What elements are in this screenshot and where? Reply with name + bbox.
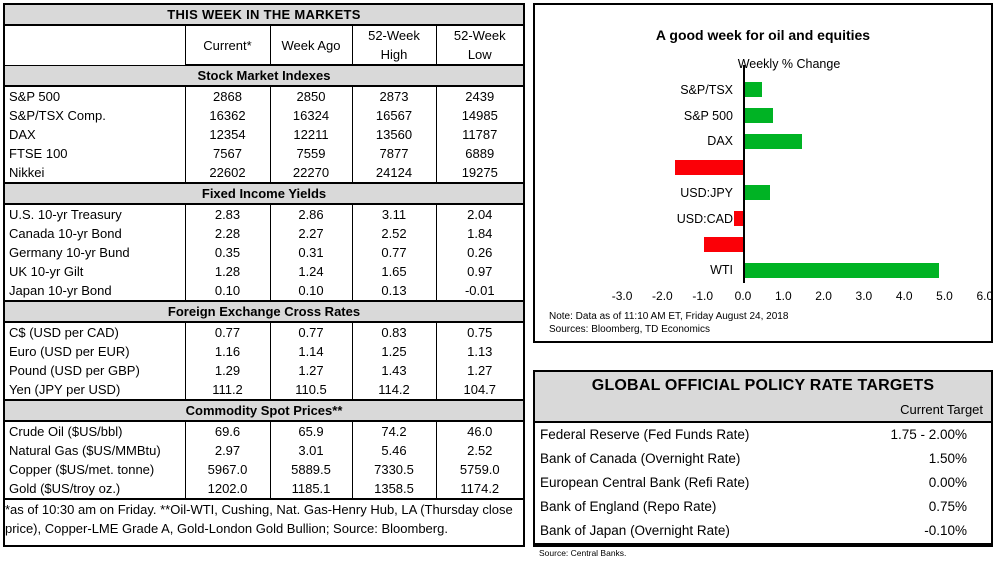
row-label: Nikkei	[5, 163, 185, 183]
cell-52-week-low: 2.52	[436, 441, 523, 460]
cell-week-ago: 0.77	[270, 322, 352, 342]
markets-footnote-row: *as of 10:30 am on Friday. **Oil-WTI, Cu…	[5, 499, 523, 538]
cell-52-week-low: -0.01	[436, 281, 523, 301]
policy-rate-value: 0.75%	[827, 495, 991, 519]
cell-week-ago: 2.86	[270, 204, 352, 224]
policy-rate-table: GLOBAL OFFICIAL POLICY RATE TARGETS Curr…	[535, 372, 991, 561]
column-header-52-week-low: 52-WeekLow	[436, 25, 523, 65]
chart-x-tick: -1.0	[692, 289, 713, 303]
chart-x-tick: -2.0	[652, 289, 673, 303]
cell-52-week-high: 2.52	[352, 224, 436, 243]
cell-current: 111.2	[185, 380, 270, 400]
cell-week-ago: 16324	[270, 106, 352, 125]
cell-week-ago: 1.24	[270, 262, 352, 281]
chart-x-tick: 4.0	[896, 289, 913, 303]
cell-week-ago: 3.01	[270, 441, 352, 460]
cell-52-week-high: 16567	[352, 106, 436, 125]
policy-rate-value: -0.10%	[827, 519, 991, 544]
chart-title: A good week for oil and equities	[535, 27, 991, 43]
row-label: C$ (USD per CAD)	[5, 322, 185, 342]
cell-52-week-high: 0.77	[352, 243, 436, 262]
cell-week-ago: 1185.1	[270, 479, 352, 499]
policy-header-current-target: Current Target	[827, 399, 991, 422]
cell-week-ago: 0.31	[270, 243, 352, 262]
row-label: Yen (JPY per USD)	[5, 380, 185, 400]
policy-rate-panel: GLOBAL OFFICIAL POLICY RATE TARGETS Curr…	[533, 370, 993, 547]
cell-week-ago: 2850	[270, 86, 352, 106]
table-row: Germany 10-yr Bund0.350.310.770.26	[5, 243, 523, 262]
chart-bar	[744, 263, 939, 278]
cell-week-ago: 1.14	[270, 342, 352, 361]
table-row: UK 10-yr Gilt1.281.241.650.97	[5, 262, 523, 281]
chart-plot-area: S&P/TSXS&P 500DAXUSD:EURUSD:JPYUSD:CADDX…	[535, 77, 991, 283]
policy-bank-name: Bank of Canada (Overnight Rate)	[535, 447, 827, 471]
chart-x-tick: 0.0	[735, 289, 752, 303]
chart-x-tick: -3.0	[612, 289, 633, 303]
cell-current: 7567	[185, 144, 270, 163]
cell-current: 0.35	[185, 243, 270, 262]
chart-x-axis: -3.0-2.0-1.00.01.02.03.04.05.06.0	[535, 289, 991, 305]
chart-subtitle: Weekly % Change	[535, 57, 991, 71]
chart-bar	[704, 237, 743, 252]
table-row: Federal Reserve (Fed Funds Rate)1.75 - 2…	[535, 422, 991, 447]
column-header-blank	[5, 25, 185, 65]
cell-52-week-low: 1.13	[436, 342, 523, 361]
cell-week-ago: 110.5	[270, 380, 352, 400]
cell-current: 16362	[185, 106, 270, 125]
row-label: Crude Oil ($US/bbl)	[5, 421, 185, 441]
markets-title-row: THIS WEEK IN THE MARKETS	[5, 5, 523, 25]
chart-bar	[675, 160, 743, 175]
cell-52-week-high: 74.2	[352, 421, 436, 441]
cell-week-ago: 0.10	[270, 281, 352, 301]
cell-current: 2.97	[185, 441, 270, 460]
row-label: Euro (USD per EUR)	[5, 342, 185, 361]
cell-current: 2.83	[185, 204, 270, 224]
chart-note: Note: Data as of 11:10 AM ET, Friday Aug…	[549, 311, 788, 336]
table-row: Gold ($US/troy oz.)1202.01185.11358.5117…	[5, 479, 523, 499]
chart-bar	[734, 211, 743, 226]
cell-current: 69.6	[185, 421, 270, 441]
markets-column-header-row: Current*Week Ago52-WeekHigh52-WeekLow	[5, 25, 523, 65]
policy-bank-name: Federal Reserve (Fed Funds Rate)	[535, 422, 827, 447]
table-row: Pound (USD per GBP)1.291.271.431.27	[5, 361, 523, 380]
table-row: DAX12354122111356011787	[5, 125, 523, 144]
weekly-change-chart-panel: A good week for oil and equities Weekly …	[533, 3, 993, 343]
chart-x-tick: 1.0	[775, 289, 792, 303]
cell-current: 5967.0	[185, 460, 270, 479]
row-label: Gold ($US/troy oz.)	[5, 479, 185, 499]
column-header-52-week-high: 52-WeekHigh	[352, 25, 436, 65]
markets-footnote: *as of 10:30 am on Friday. **Oil-WTI, Cu…	[5, 499, 523, 538]
section-heading: Foreign Exchange Cross Rates	[5, 301, 523, 322]
cell-52-week-high: 7877	[352, 144, 436, 163]
cell-week-ago: 5889.5	[270, 460, 352, 479]
cell-52-week-high: 24124	[352, 163, 436, 183]
policy-bank-name: Bank of Japan (Overnight Rate)	[535, 519, 827, 544]
cell-current: 2.28	[185, 224, 270, 243]
cell-52-week-low: 19275	[436, 163, 523, 183]
cell-current: 1.28	[185, 262, 270, 281]
table-row: Bank of Canada (Overnight Rate)1.50%	[535, 447, 991, 471]
table-row: Japan 10-yr Bond0.100.100.13-0.01	[5, 281, 523, 301]
cell-week-ago: 22270	[270, 163, 352, 183]
cell-52-week-high: 0.83	[352, 322, 436, 342]
cell-52-week-low: 46.0	[436, 421, 523, 441]
cell-52-week-high: 1.43	[352, 361, 436, 380]
table-row: Crude Oil ($US/bbl)69.665.974.246.0	[5, 421, 523, 441]
row-label: DAX	[5, 125, 185, 144]
cell-52-week-low: 104.7	[436, 380, 523, 400]
cell-current: 2868	[185, 86, 270, 106]
policy-rate-value: 0.00%	[827, 471, 991, 495]
chart-x-tick: 3.0	[856, 289, 873, 303]
cell-52-week-low: 6889	[436, 144, 523, 163]
table-row: Nikkei22602222702412419275	[5, 163, 523, 183]
row-label: U.S. 10-yr Treasury	[5, 204, 185, 224]
cell-week-ago: 2.27	[270, 224, 352, 243]
cell-52-week-high: 0.13	[352, 281, 436, 301]
table-row: Copper ($US/met. tonne)5967.05889.57330.…	[5, 460, 523, 479]
chart-bar	[744, 108, 773, 123]
cell-week-ago: 1.27	[270, 361, 352, 380]
this-week-in-the-markets-panel: THIS WEEK IN THE MARKETSCurrent*Week Ago…	[3, 3, 525, 547]
cell-current: 1202.0	[185, 479, 270, 499]
cell-52-week-high: 114.2	[352, 380, 436, 400]
markets-title: THIS WEEK IN THE MARKETS	[5, 5, 523, 25]
column-header-current: Current*	[185, 25, 270, 65]
section-heading: Stock Market Indexes	[5, 65, 523, 86]
table-row: Canada 10-yr Bond2.282.272.521.84	[5, 224, 523, 243]
cell-week-ago: 12211	[270, 125, 352, 144]
markets-dashboard: THIS WEEK IN THE MARKETSCurrent*Week Ago…	[0, 0, 996, 550]
policy-table-title-row: GLOBAL OFFICIAL POLICY RATE TARGETS	[535, 372, 991, 399]
cell-week-ago: 7559	[270, 144, 352, 163]
row-label: Canada 10-yr Bond	[5, 224, 185, 243]
row-label: Germany 10-yr Bund	[5, 243, 185, 262]
markets-table: THIS WEEK IN THE MARKETSCurrent*Week Ago…	[5, 5, 523, 538]
row-label: Pound (USD per GBP)	[5, 361, 185, 380]
cell-52-week-low: 0.26	[436, 243, 523, 262]
row-label: UK 10-yr Gilt	[5, 262, 185, 281]
cell-52-week-high: 3.11	[352, 204, 436, 224]
chart-category-label: USD:CAD	[583, 212, 733, 226]
chart-bar	[744, 82, 762, 97]
chart-category-label: USD:JPY	[583, 186, 733, 200]
table-row: Euro (USD per EUR)1.161.141.251.13	[5, 342, 523, 361]
cell-52-week-low: 2.04	[436, 204, 523, 224]
section-header-row: Foreign Exchange Cross Rates	[5, 301, 523, 322]
table-row: Bank of Japan (Overnight Rate)-0.10%	[535, 519, 991, 544]
cell-current: 22602	[185, 163, 270, 183]
chart-bar	[744, 185, 770, 200]
section-header-row: Stock Market Indexes	[5, 65, 523, 86]
chart-category-label: S&P/TSX	[583, 83, 733, 97]
cell-52-week-low: 14985	[436, 106, 523, 125]
chart-x-tick: 5.0	[936, 289, 953, 303]
cell-52-week-high: 1358.5	[352, 479, 436, 499]
row-label: Japan 10-yr Bond	[5, 281, 185, 301]
cell-52-week-high: 5.46	[352, 441, 436, 460]
cell-current: 0.77	[185, 322, 270, 342]
chart-note-line2: Sources: Bloomberg, TD Economics	[549, 324, 788, 337]
chart-x-tick: 2.0	[815, 289, 832, 303]
policy-bank-name: Bank of England (Repo Rate)	[535, 495, 827, 519]
cell-52-week-high: 1.65	[352, 262, 436, 281]
row-label: Natural Gas ($US/MMBtu)	[5, 441, 185, 460]
cell-52-week-low: 1.84	[436, 224, 523, 243]
chart-note-line1: Note: Data as of 11:10 AM ET, Friday Aug…	[549, 311, 788, 324]
chart-x-tick: 6.0	[976, 289, 993, 303]
section-header-row: Fixed Income Yields	[5, 183, 523, 204]
table-row: C$ (USD per CAD)0.770.770.830.75	[5, 322, 523, 342]
policy-bank-name: European Central Bank (Refi Rate)	[535, 471, 827, 495]
chart-category-label: S&P 500	[583, 109, 733, 123]
cell-52-week-low: 11787	[436, 125, 523, 144]
policy-rate-value: 1.75 - 2.00%	[827, 422, 991, 447]
table-row: U.S. 10-yr Treasury2.832.863.112.04	[5, 204, 523, 224]
section-heading: Fixed Income Yields	[5, 183, 523, 204]
cell-52-week-low: 0.75	[436, 322, 523, 342]
section-heading: Commodity Spot Prices**	[5, 400, 523, 421]
cell-52-week-high: 1.25	[352, 342, 436, 361]
chart-bar	[744, 134, 802, 149]
policy-rate-value: 1.50%	[827, 447, 991, 471]
cell-52-week-low: 5759.0	[436, 460, 523, 479]
cell-current: 1.29	[185, 361, 270, 380]
table-row: FTSE 1007567755978776889	[5, 144, 523, 163]
cell-current: 12354	[185, 125, 270, 144]
cell-52-week-high: 13560	[352, 125, 436, 144]
cell-52-week-low: 1174.2	[436, 479, 523, 499]
cell-52-week-low: 1.27	[436, 361, 523, 380]
cell-52-week-high: 7330.5	[352, 460, 436, 479]
policy-source-row: Source: Central Banks.	[535, 544, 991, 561]
table-row: Bank of England (Repo Rate)0.75%	[535, 495, 991, 519]
policy-source: Source: Central Banks.	[535, 544, 991, 561]
cell-current: 1.16	[185, 342, 270, 361]
chart-category-label: WTI	[583, 263, 733, 277]
row-label: FTSE 100	[5, 144, 185, 163]
policy-table-header-row: Current Target	[535, 399, 991, 422]
row-label: Copper ($US/met. tonne)	[5, 460, 185, 479]
cell-52-week-high: 2873	[352, 86, 436, 106]
table-row: European Central Bank (Refi Rate)0.00%	[535, 471, 991, 495]
cell-52-week-low: 2439	[436, 86, 523, 106]
section-header-row: Commodity Spot Prices**	[5, 400, 523, 421]
table-row: S&P/TSX Comp.16362163241656714985	[5, 106, 523, 125]
table-row: S&P 5002868285028732439	[5, 86, 523, 106]
table-row: Natural Gas ($US/MMBtu)2.973.015.462.52	[5, 441, 523, 460]
column-header-week-ago: Week Ago	[270, 25, 352, 65]
cell-week-ago: 65.9	[270, 421, 352, 441]
table-row: Yen (JPY per USD)111.2110.5114.2104.7	[5, 380, 523, 400]
policy-table-title: GLOBAL OFFICIAL POLICY RATE TARGETS	[535, 372, 991, 399]
row-label: S&P 500	[5, 86, 185, 106]
chart-category-label: DAX	[583, 134, 733, 148]
cell-current: 0.10	[185, 281, 270, 301]
chart-zero-axis	[743, 65, 745, 283]
policy-header-blank	[535, 399, 827, 422]
row-label: S&P/TSX Comp.	[5, 106, 185, 125]
cell-52-week-low: 0.97	[436, 262, 523, 281]
